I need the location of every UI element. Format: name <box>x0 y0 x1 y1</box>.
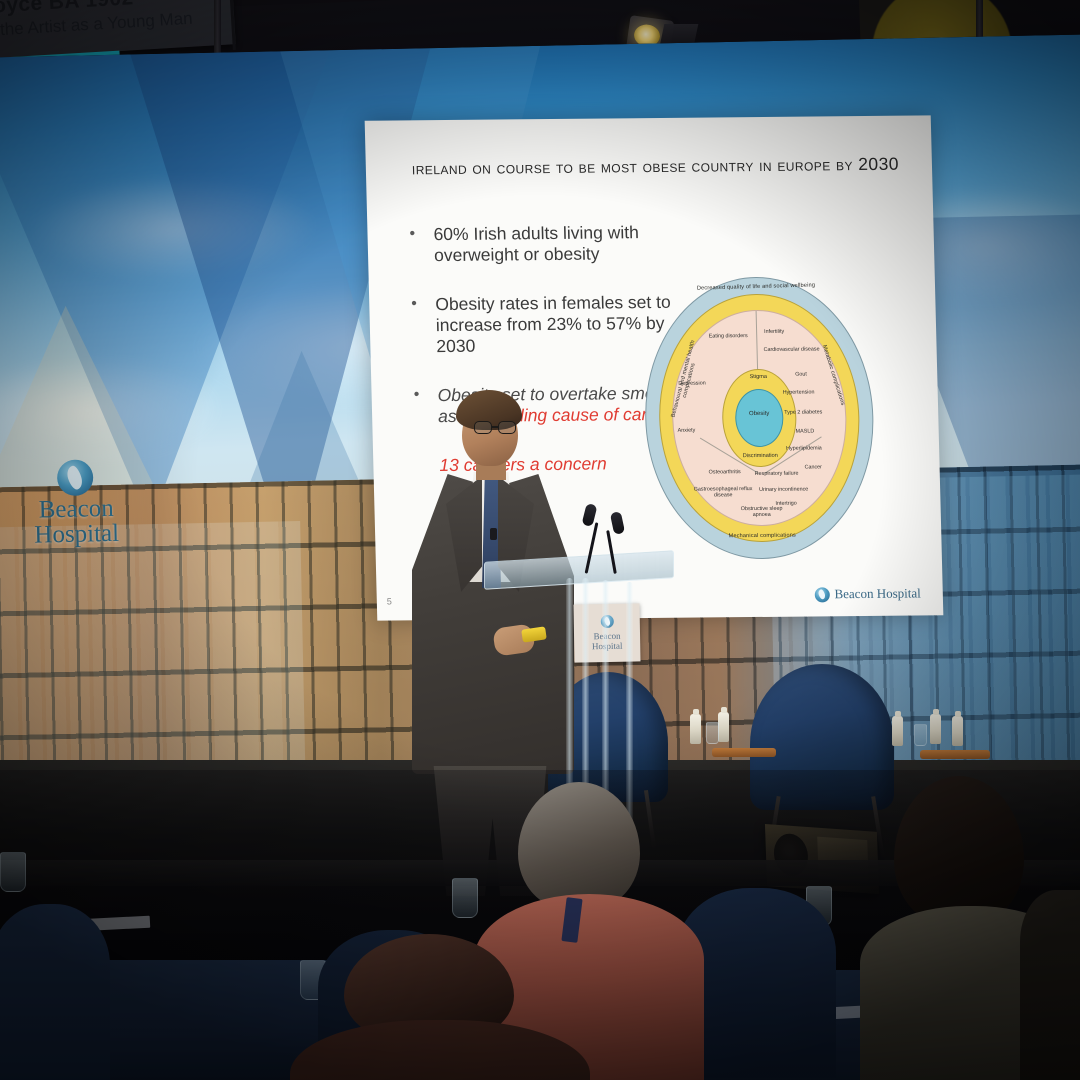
diagram-item-cardiovascular-disease: Cardiovascular disease <box>763 346 821 353</box>
water-glass <box>914 724 927 746</box>
water-glass <box>452 878 478 918</box>
water-bottle <box>718 712 729 742</box>
diagram-item-depression: Depression <box>678 381 705 388</box>
audience-torso <box>1020 890 1080 1080</box>
diagram-item-eating-disorders: Eating disorders <box>699 333 757 340</box>
diagram-item-osteoarthritis: Osteoarthritis <box>709 469 741 476</box>
diagram-item-gerd: Gastroesophageal reflux disease <box>687 486 759 499</box>
side-table <box>712 748 776 757</box>
chair-back <box>0 904 110 1080</box>
slide-footer-logo: Beacon Hospital <box>814 585 921 602</box>
slide-bullet-1: 60% Irish adults living with overweight … <box>403 222 694 267</box>
diagram-item-infertility: Infertility <box>764 329 784 336</box>
backdrop-logo-line-2: Hospital <box>34 521 119 548</box>
diagram-item-gout: Gout <box>795 372 807 379</box>
diagram-core-obesity: Obesity <box>729 411 789 418</box>
diagram-item-masld: MASLD <box>796 428 815 435</box>
diagram-item-type-2-diabetes: Type 2 diabetes <box>784 409 822 416</box>
diagram-item-urinary-incontinence: Urinary incontinence <box>759 487 808 494</box>
backdrop-logo-line-1: Beacon <box>34 497 119 523</box>
slide-page-number: 5 <box>387 597 392 607</box>
water-bottle <box>892 716 903 746</box>
diagram-item-cancer: Cancer <box>804 464 822 471</box>
diagram-item-hyperlipidemia: Hyperlipidemia <box>786 445 822 452</box>
water-bottle <box>952 716 963 746</box>
slide-footer-logo-text: Beacon Hospital <box>834 585 921 602</box>
diagram-item-respiratory-failure: Respiratory failure <box>755 471 799 478</box>
lavalier-microphone-icon <box>490 528 497 540</box>
water-bottle <box>930 714 941 744</box>
building-glass-facade-left <box>0 521 306 799</box>
diagram-core-stigma: Stigma <box>728 374 788 381</box>
diagram-core-discrimination: Discrimination <box>730 453 790 460</box>
water-glass <box>0 852 26 892</box>
glasses-icon <box>474 421 520 435</box>
glasses-lens-right <box>498 421 516 434</box>
diagram-sector-label-mechanical: Mechanical complications <box>702 532 822 539</box>
beacon-swirl-icon <box>57 459 94 496</box>
beacon-swirl-icon <box>814 587 829 602</box>
backdrop-beacon-logo: Beacon Hospital <box>33 459 120 548</box>
side-table <box>920 750 990 759</box>
obesity-complications-diagram: Decreased quality of life and social wel… <box>642 276 877 560</box>
water-glass <box>706 722 719 744</box>
diagram-item-hypertension: Hypertension <box>783 389 815 396</box>
diagram-item-anxiety: Anxiety <box>678 428 696 435</box>
lectern-top-surface <box>484 550 674 590</box>
diagram-core-circle <box>735 389 784 447</box>
slide-title: Ireland on Course to be Most obese count… <box>412 154 903 180</box>
diagram-item-obstructive-sleep-apnoea: Obstructive sleep apnoea <box>733 506 791 519</box>
conference-screenshot: Joyce BA 1902 ait of the Artist as a You… <box>0 0 1080 1080</box>
glasses-lens-left <box>474 421 492 434</box>
audience-foreground <box>0 770 1080 1080</box>
water-bottle <box>690 714 701 744</box>
